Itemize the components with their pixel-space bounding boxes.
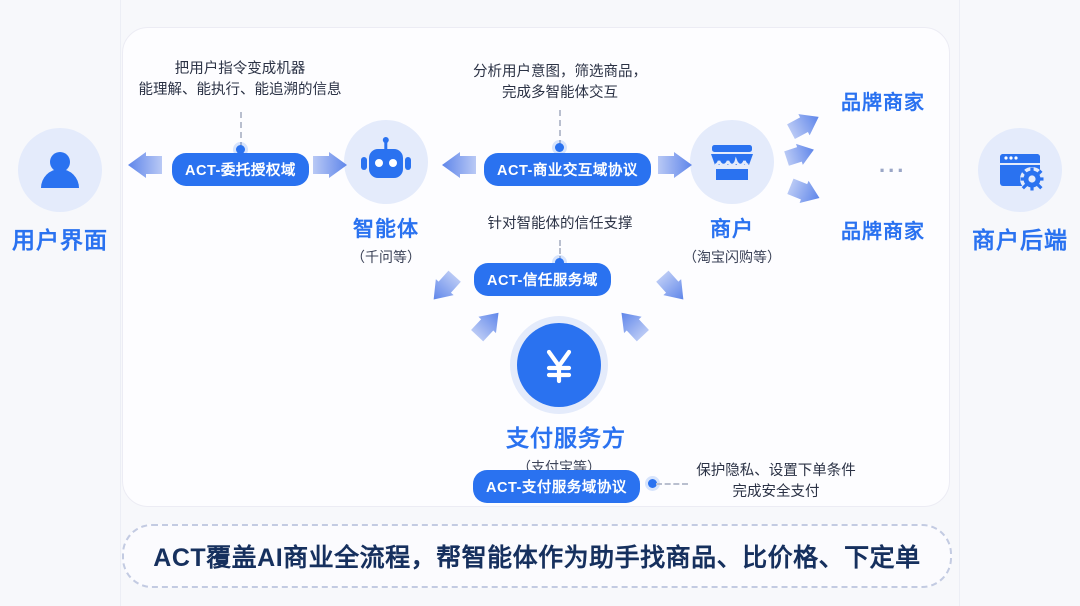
node-merchant: 商户 （淘宝闪购等） <box>679 120 785 267</box>
node-user-interface-label: 用户界面 <box>8 221 112 255</box>
annotation-payment-line1: 保护隐私、设置下单条件 <box>688 461 864 482</box>
arrow-to-agent-icon <box>313 152 347 183</box>
left-divider <box>120 0 121 606</box>
badge-commerce: ACT-商业交互域协议 <box>484 153 651 186</box>
arrow-commerce-to-merchant-icon <box>658 152 692 183</box>
connector-payment <box>656 483 688 485</box>
brand-merchant-top: 品牌商家 <box>841 86 925 115</box>
node-agent-sublabel: （千问等） <box>333 247 439 267</box>
annotation-payment-line2: 完成安全支付 <box>688 482 864 503</box>
summary-banner: ACT覆盖AI商业全流程，帮智能体作为助手找商品、比价格、下定单 <box>122 524 952 588</box>
badge-payment: ACT-支付服务域协议 <box>473 470 640 503</box>
arrow-commerce-to-agent-icon <box>442 152 476 183</box>
node-payment: 支付服务方 （支付宝等） <box>506 323 612 477</box>
connector-dot-commerce <box>555 143 564 152</box>
connector-delegation <box>240 112 242 148</box>
right-divider <box>959 0 960 606</box>
brand-merchant-ellipsis: ... <box>879 152 906 178</box>
annotation-delegation-line2: 能理解、能执行、能追溯的信息 <box>130 80 350 101</box>
node-user-interface: 用户界面 <box>8 128 112 255</box>
node-merchant-backend: 商户后端 <box>967 128 1073 255</box>
node-merchant-sublabel: （淘宝闪购等） <box>679 247 785 267</box>
annotation-commerce-line1: 分析用户意图，筛选商品， <box>452 62 668 83</box>
connector-commerce <box>559 110 561 146</box>
user-avatar-icon <box>18 128 102 212</box>
storefront-icon <box>690 120 774 204</box>
summary-banner-text: ACT覆盖AI商业全流程，帮智能体作为助手找商品、比价格、下定单 <box>153 538 920 574</box>
annotation-trust: 针对智能体的信任支撑 <box>462 214 658 235</box>
node-agent: 智能体 （千问等） <box>333 120 439 267</box>
arrow-to-user-icon <box>128 152 162 183</box>
brand-merchant-bottom: 品牌商家 <box>841 215 925 244</box>
node-payment-label: 支付服务方 <box>506 419 612 453</box>
annotation-commerce: 分析用户意图，筛选商品， 完成多智能体交互 <box>452 62 668 104</box>
node-merchant-backend-label: 商户后端 <box>967 221 1073 255</box>
badge-trust: ACT-信任服务域 <box>474 263 611 296</box>
annotation-delegation: 把用户指令变成机器 能理解、能执行、能追溯的信息 <box>130 59 350 101</box>
annotation-commerce-line2: 完成多智能体交互 <box>452 83 668 104</box>
node-agent-label: 智能体 <box>333 213 439 243</box>
annotation-payment: 保护隐私、设置下单条件 完成安全支付 <box>688 461 864 503</box>
node-merchant-label: 商户 <box>679 213 785 243</box>
badge-delegation: ACT-委托授权域 <box>172 153 309 186</box>
robot-icon <box>344 120 428 204</box>
annotation-trust-line1: 针对智能体的信任支撑 <box>462 214 658 235</box>
browser-gear-icon <box>978 128 1062 212</box>
annotation-delegation-line1: 把用户指令变成机器 <box>130 59 350 80</box>
yuan-currency-icon <box>517 323 601 407</box>
diagram-canvas: 用户界面 <box>0 0 1080 606</box>
